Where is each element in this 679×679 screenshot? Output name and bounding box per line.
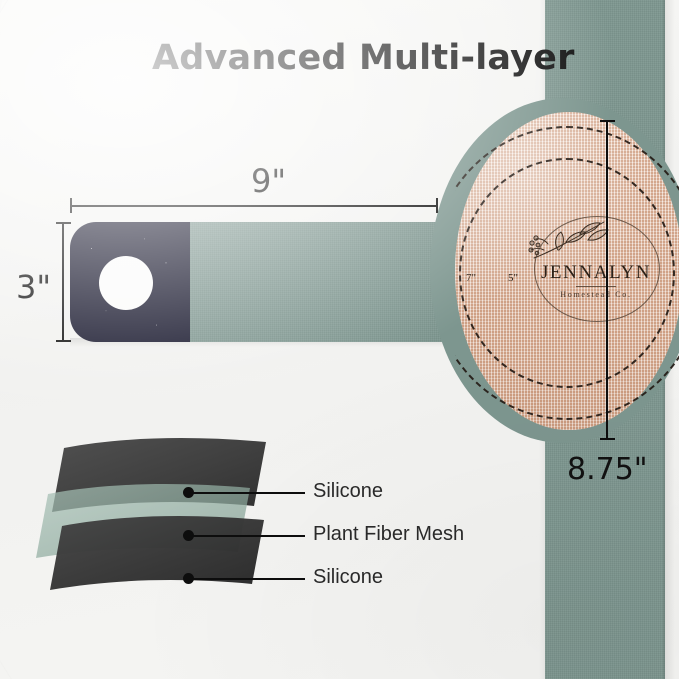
dimension-label-height: 3" bbox=[16, 268, 51, 306]
dimension-cap-width-left bbox=[70, 198, 72, 213]
dimension-line-diameter bbox=[606, 120, 608, 440]
dimension-cap-diameter-bottom bbox=[600, 438, 615, 440]
dimension-cap-width-right bbox=[436, 198, 438, 213]
callout-line-mesh bbox=[188, 535, 305, 537]
callout-line-silicone-bottom bbox=[188, 578, 305, 580]
callout-label-mesh: Plant Fiber Mesh bbox=[313, 523, 464, 546]
dimension-cap-height-bottom bbox=[56, 340, 71, 342]
page-title: Advanced Multi-layer bbox=[152, 38, 575, 78]
callout-label-silicone-bottom: Silicone bbox=[313, 566, 383, 589]
handle-hang-hole bbox=[99, 256, 153, 310]
dimension-cap-height-top bbox=[56, 222, 71, 224]
dimension-label-diameter: 8.75" bbox=[567, 452, 648, 487]
dimension-line-width bbox=[70, 205, 438, 207]
dimension-cap-diameter-top bbox=[600, 120, 615, 122]
mat-circular-face bbox=[455, 112, 679, 430]
dimension-label-width: 9" bbox=[251, 162, 286, 200]
product-infographic: 7" 5" JENNALYN Homestead Co. 9" bbox=[0, 0, 679, 679]
guide-ring-7in-label: 7" bbox=[466, 272, 476, 284]
callout-line-silicone-top bbox=[188, 492, 305, 494]
guide-ring-5in-label: 5" bbox=[508, 272, 518, 284]
layer-stack-diagram bbox=[18, 434, 328, 614]
callout-label-silicone-top: Silicone bbox=[313, 480, 383, 503]
dimension-line-height bbox=[62, 222, 64, 342]
